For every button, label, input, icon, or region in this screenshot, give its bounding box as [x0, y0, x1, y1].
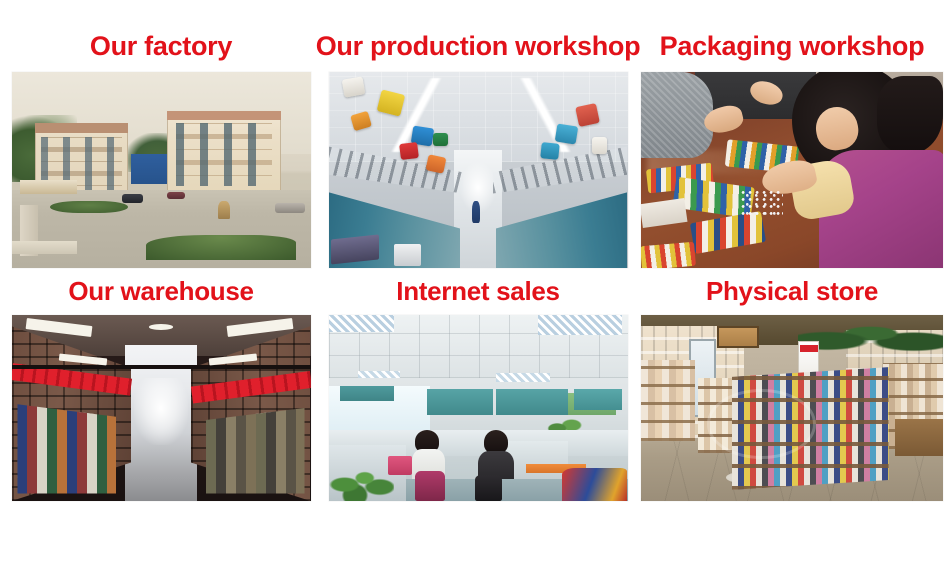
caption-our-production-workshop: Our production workshop — [316, 0, 641, 72]
photo-our-factory — [12, 72, 311, 268]
warehouse-ceiling-beam — [12, 365, 311, 369]
packaging-worker-sweater — [641, 72, 713, 158]
caption-physical-store: Physical store — [706, 272, 878, 315]
office-chair-2 — [475, 475, 502, 501]
workshop-cart — [394, 244, 421, 266]
caption-our-factory: Our factory — [90, 0, 232, 72]
workshop-yarn-spool — [399, 142, 419, 160]
office-blind-4 — [574, 389, 622, 409]
factory-building-left-roof — [35, 123, 128, 133]
cell-internet-sales: Internet sales — [322, 272, 634, 512]
store-greenery-decor — [798, 315, 943, 352]
photo-our-production-workshop — [329, 72, 628, 268]
photo-internet-sales — [329, 315, 628, 501]
workshop-yarn-spool — [342, 76, 366, 97]
factory-perimeter-wall — [12, 241, 78, 255]
factory-hedge-circle — [50, 201, 128, 213]
store-promo-sign-banner — [800, 345, 818, 352]
warehouse-products-left — [17, 404, 116, 493]
packaging-sock — [641, 242, 696, 268]
caption-our-warehouse: Our warehouse — [68, 272, 253, 315]
office-ceiling-light-left — [329, 315, 395, 332]
cell-physical-store: Physical store — [634, 272, 950, 512]
office-blind-1 — [340, 386, 394, 401]
cell-packaging-workshop: Packaging workshop — [634, 0, 950, 272]
factory-hedge-foreground — [146, 235, 296, 260]
workshop-control-panel — [331, 234, 379, 264]
workshop-yarn-spool — [433, 133, 448, 147]
office-ceiling-light-center-2 — [358, 371, 400, 378]
store-watermark-ring — [707, 389, 816, 458]
photo-packaging-workshop — [641, 72, 943, 268]
factory-blue-gate — [131, 154, 170, 183]
store-wall-poster — [717, 326, 759, 348]
factory-car-3 — [275, 203, 305, 213]
photo-grid-page: Our factory — [0, 0, 950, 568]
office-fabric-samples — [562, 468, 628, 501]
photo-physical-store — [641, 315, 943, 501]
factory-car-1 — [122, 194, 143, 204]
office-chair-1 — [415, 471, 445, 501]
warehouse-aisle-glow — [134, 378, 188, 445]
store-shelf-left — [641, 360, 695, 442]
office-blind-2 — [427, 389, 493, 415]
factory-statue — [218, 201, 230, 219]
photo-our-warehouse — [12, 315, 311, 501]
cell-our-factory: Our factory — [0, 0, 322, 272]
cell-our-production-workshop: Our production workshop — [322, 0, 634, 272]
warehouse-ceiling-lamp — [149, 324, 173, 330]
workshop-yarn-spool — [540, 142, 559, 159]
caption-internet-sales: Internet sales — [396, 272, 559, 315]
factory-windows-right — [176, 123, 272, 186]
workshop-yarn-spool — [554, 123, 577, 144]
workshop-yarn-spool — [592, 137, 607, 155]
factory-entrance-canopy — [20, 180, 77, 194]
packaging-beads — [741, 190, 783, 215]
factory-building-right-roof — [167, 111, 281, 120]
factory-car-2 — [167, 192, 185, 200]
cell-our-warehouse: Our warehouse — [0, 272, 322, 512]
warehouse-products-right — [206, 408, 305, 494]
workshop-worker — [472, 201, 480, 223]
photo-grid: Our factory — [0, 0, 950, 520]
packaging-worker-ponytail — [877, 76, 943, 154]
office-ceiling-light-center — [496, 373, 550, 382]
office-ceiling-light-right — [538, 315, 622, 335]
caption-packaging-workshop: Packaging workshop — [660, 0, 925, 72]
store-counter — [895, 419, 943, 456]
office-plant-foreground — [329, 460, 395, 501]
workshop-machines-right — [496, 186, 628, 268]
